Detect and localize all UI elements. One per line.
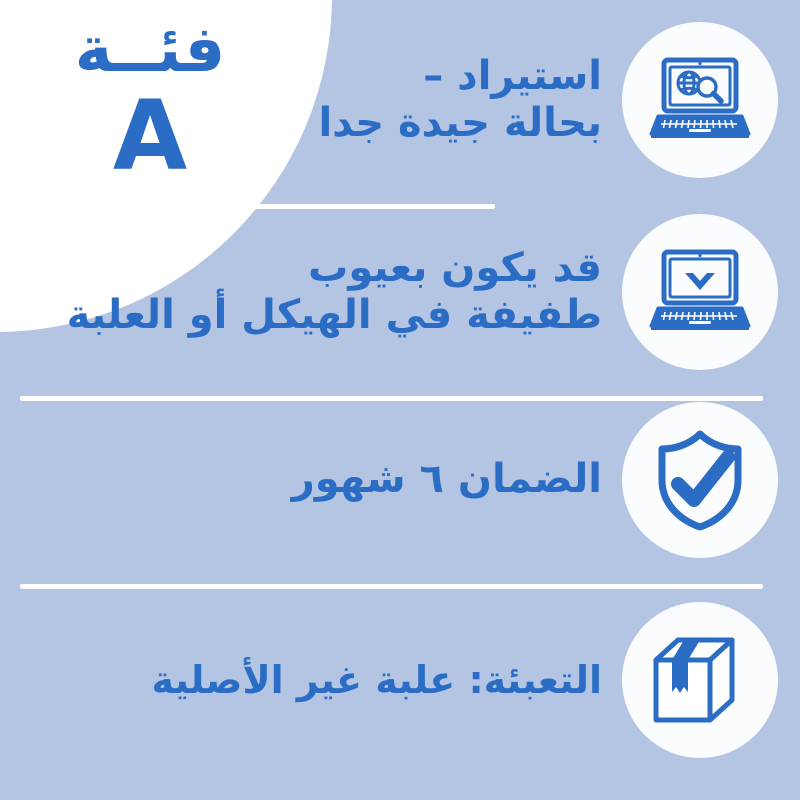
grade-a-infographic-card: فئــة A: [0, 0, 800, 800]
feature-row-text: قد يكون بعيوب طفيفة في الهيكل أو العلبة: [0, 245, 612, 339]
feature-row-packaging: التعبئة: علبة غير الأصلية: [0, 600, 800, 760]
feature-row-text: الضمان ٦ شهور: [0, 456, 612, 503]
laptop-globe-search-icon: [622, 22, 778, 178]
shield-check-icon: [622, 402, 778, 558]
feature-row-minor-defects: قد يكون بعيوب طفيفة في الهيكل أو العلبة: [0, 212, 800, 372]
grade-badge: فئــة A: [0, 18, 300, 184]
grade-badge-word: فئــة: [0, 18, 300, 82]
package-box-icon: [622, 602, 778, 758]
feature-row-warranty: الضمان ٦ شهور: [0, 400, 800, 560]
grade-badge-letter: A: [0, 88, 300, 184]
laptop-check-icon: [622, 214, 778, 370]
feature-row-text: التعبئة: علبة غير الأصلية: [0, 658, 612, 703]
